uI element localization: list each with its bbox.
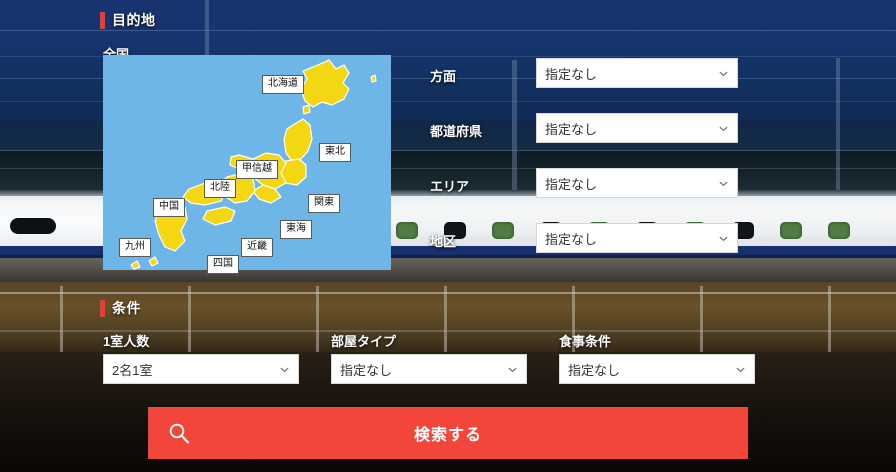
select-guests-per-room[interactable]: 2名1室 [103, 354, 299, 384]
destination-section-header: 目的地 [100, 10, 156, 30]
label-prefecture: 都道府県 [430, 121, 482, 140]
search-button[interactable]: 検索する [148, 407, 748, 459]
map-label-shikoku[interactable]: 四国 [207, 255, 239, 274]
select-room-type[interactable]: 指定なし [331, 354, 527, 384]
label-district: 地区 [430, 231, 456, 250]
select-meal-plan-value: 指定なし [568, 360, 735, 379]
label-room-type: 部屋タイプ [331, 331, 396, 350]
select-guests-per-room-value: 2名1室 [112, 360, 279, 379]
map-label-kinki[interactable]: 近畿 [241, 238, 273, 257]
chevron-down-icon [718, 68, 729, 79]
select-area-value: 指定なし [545, 174, 718, 193]
accent-bar-icon [100, 12, 105, 29]
destination-section-title: 目的地 [112, 10, 156, 30]
select-district[interactable]: 指定なし [536, 223, 738, 253]
map-label-kanto[interactable]: 関東 [308, 194, 340, 213]
chevron-down-icon [718, 233, 729, 244]
map-label-tohoku[interactable]: 東北 [319, 143, 351, 162]
map-label-hokuriku[interactable]: 北陸 [204, 179, 236, 198]
chevron-down-icon [718, 123, 729, 134]
chevron-down-icon [279, 364, 290, 375]
select-meal-plan[interactable]: 指定なし [559, 354, 755, 384]
search-button-label: 検索する [414, 421, 482, 445]
map-label-kyushu[interactable]: 九州 [119, 238, 151, 257]
select-direction-value: 指定なし [545, 64, 718, 83]
hotel-search-widget: N700 目的地 全国 [0, 0, 896, 472]
map-label-tokai[interactable]: 東海 [280, 220, 312, 239]
select-area[interactable]: 指定なし [536, 168, 738, 198]
map-label-chugoku[interactable]: 中国 [153, 198, 185, 217]
map-label-koshinetsu[interactable]: 甲信越 [236, 160, 278, 179]
select-prefecture-value: 指定なし [545, 119, 718, 138]
label-direction: 方面 [430, 66, 456, 85]
label-area: エリア [430, 176, 469, 195]
map-label-hokkaido[interactable]: 北海道 [262, 75, 304, 94]
select-prefecture[interactable]: 指定なし [536, 113, 738, 143]
label-meal-plan: 食事条件 [559, 331, 611, 350]
chevron-down-icon [735, 364, 746, 375]
conditions-section-title: 条件 [112, 298, 141, 318]
search-icon [168, 422, 190, 444]
label-guests-per-room: 1室人数 [103, 331, 149, 350]
select-district-value: 指定なし [545, 229, 718, 248]
conditions-section-header: 条件 [100, 298, 141, 318]
chevron-down-icon [507, 364, 518, 375]
japan-map[interactable]: 北海道 東北 甲信越 北陸 関東 中国 東海 近畿 九州 四国 [103, 55, 391, 270]
select-room-type-value: 指定なし [340, 360, 507, 379]
chevron-down-icon [718, 178, 729, 189]
select-direction[interactable]: 指定なし [536, 58, 738, 88]
accent-bar-icon [100, 300, 105, 317]
